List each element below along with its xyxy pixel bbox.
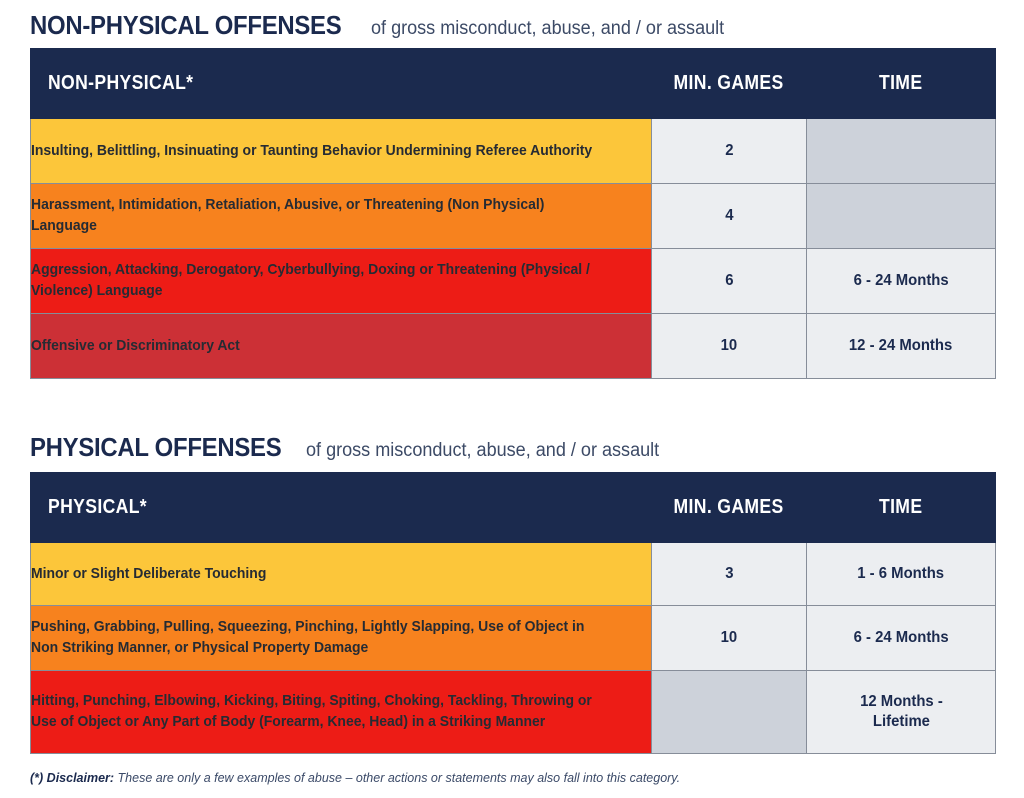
column-header-min-games: MIN. GAMES [652, 473, 807, 543]
offense-description-cell: Pushing, Grabbing, Pulling, Squeezing, P… [31, 606, 652, 671]
min-games-cell: 2 [652, 119, 807, 184]
column-header-category: NON-PHYSICAL* [31, 49, 652, 119]
offense-description-cell: Offensive or Discriminatory Act [31, 314, 652, 379]
time-cell: 12 - 24 Months [807, 314, 996, 379]
offense-description: Harassment, Intimidation, Retaliation, A… [31, 195, 608, 236]
section-heading-physical: PHYSICAL OFFENSESof gross misconduct, ab… [30, 432, 678, 463]
min-games-cell: 3 [652, 543, 807, 606]
time-cell: 1 - 6 Months [807, 543, 996, 606]
section-heading-non-physical: NON-PHYSICAL OFFENSESof gross misconduct… [30, 10, 743, 41]
column-header-category: PHYSICAL* [31, 473, 652, 543]
time-cell [807, 184, 996, 249]
column-header-min-games: MIN. GAMES [652, 49, 807, 119]
min-games-value: 2 [725, 141, 733, 161]
table-row: Offensive or Discriminatory Act 10 12 - … [31, 314, 996, 379]
table-header-row: NON-PHYSICAL* MIN. GAMES TIME [31, 49, 996, 119]
table-row: Aggression, Attacking, Derogatory, Cyber… [31, 249, 996, 314]
column-header-time: TIME [807, 49, 996, 119]
column-header-time: TIME [807, 473, 996, 543]
offense-description-cell: Insulting, Belittling, Insinuating or Ta… [31, 119, 652, 184]
offense-description: Insulting, Belittling, Insinuating or Ta… [31, 141, 592, 162]
table-row: Harassment, Intimidation, Retaliation, A… [31, 184, 996, 249]
disclaimer-text: These are only a few examples of abuse –… [118, 771, 681, 785]
min-games-value: 6 [725, 271, 733, 291]
table-non-physical-offenses: NON-PHYSICAL* MIN. GAMES TIME Insulting,… [30, 48, 996, 379]
offense-description: Hitting, Punching, Elbowing, Kicking, Bi… [31, 691, 608, 732]
offense-description: Minor or Slight Deliberate Touching [31, 564, 266, 585]
offense-description: Aggression, Attacking, Derogatory, Cyber… [31, 260, 608, 301]
disclaimer: (*) Disclaimer: These are only a few exa… [30, 771, 680, 785]
infographic-page: NON-PHYSICAL OFFENSESof gross misconduct… [0, 0, 1024, 798]
section-title-strong: NON-PHYSICAL OFFENSES [30, 10, 341, 41]
time-value: 12 - 24 Months [849, 336, 952, 356]
min-games-cell: 10 [652, 314, 807, 379]
offense-description-cell: Harassment, Intimidation, Retaliation, A… [31, 184, 652, 249]
min-games-cell: 4 [652, 184, 807, 249]
section-title-subtitle: of gross misconduct, abuse, and / or ass… [306, 440, 659, 462]
time-cell [807, 119, 996, 184]
min-games-cell: 10 [652, 606, 807, 671]
offense-description-cell: Minor or Slight Deliberate Touching [31, 543, 652, 606]
min-games-value: 10 [721, 336, 738, 356]
min-games-value: 4 [725, 206, 733, 226]
offense-description-cell: Hitting, Punching, Elbowing, Kicking, Bi… [31, 671, 652, 754]
table-row: Minor or Slight Deliberate Touching 3 1 … [31, 543, 996, 606]
offense-description-cell: Aggression, Attacking, Derogatory, Cyber… [31, 249, 652, 314]
table-row: Insulting, Belittling, Insinuating or Ta… [31, 119, 996, 184]
time-cell: 12 Months - Lifetime [807, 671, 996, 754]
table-row: Pushing, Grabbing, Pulling, Squeezing, P… [31, 606, 996, 671]
time-value: 1 - 6 Months [858, 564, 945, 584]
offense-description: Offensive or Discriminatory Act [31, 336, 240, 357]
min-games-cell: 6 [652, 249, 807, 314]
table-physical-offenses: PHYSICAL* MIN. GAMES TIME Minor or Sligh… [30, 472, 996, 754]
section-title-strong: PHYSICAL OFFENSES [30, 432, 281, 463]
section-title-subtitle: of gross misconduct, abuse, and / or ass… [371, 18, 724, 40]
offense-description: Pushing, Grabbing, Pulling, Squeezing, P… [31, 617, 608, 658]
time-value: 6 - 24 Months [853, 271, 948, 291]
disclaimer-label: (*) Disclaimer: [30, 771, 114, 785]
min-games-value: 10 [721, 628, 738, 648]
min-games-value: 3 [725, 564, 733, 584]
time-cell: 6 - 24 Months [807, 249, 996, 314]
table-row: Hitting, Punching, Elbowing, Kicking, Bi… [31, 671, 996, 754]
min-games-cell [652, 671, 807, 754]
time-cell: 6 - 24 Months [807, 606, 996, 671]
time-value: 6 - 24 Months [853, 628, 948, 648]
table-header-row: PHYSICAL* MIN. GAMES TIME [31, 473, 996, 543]
time-value: 12 Months - Lifetime [860, 692, 943, 732]
